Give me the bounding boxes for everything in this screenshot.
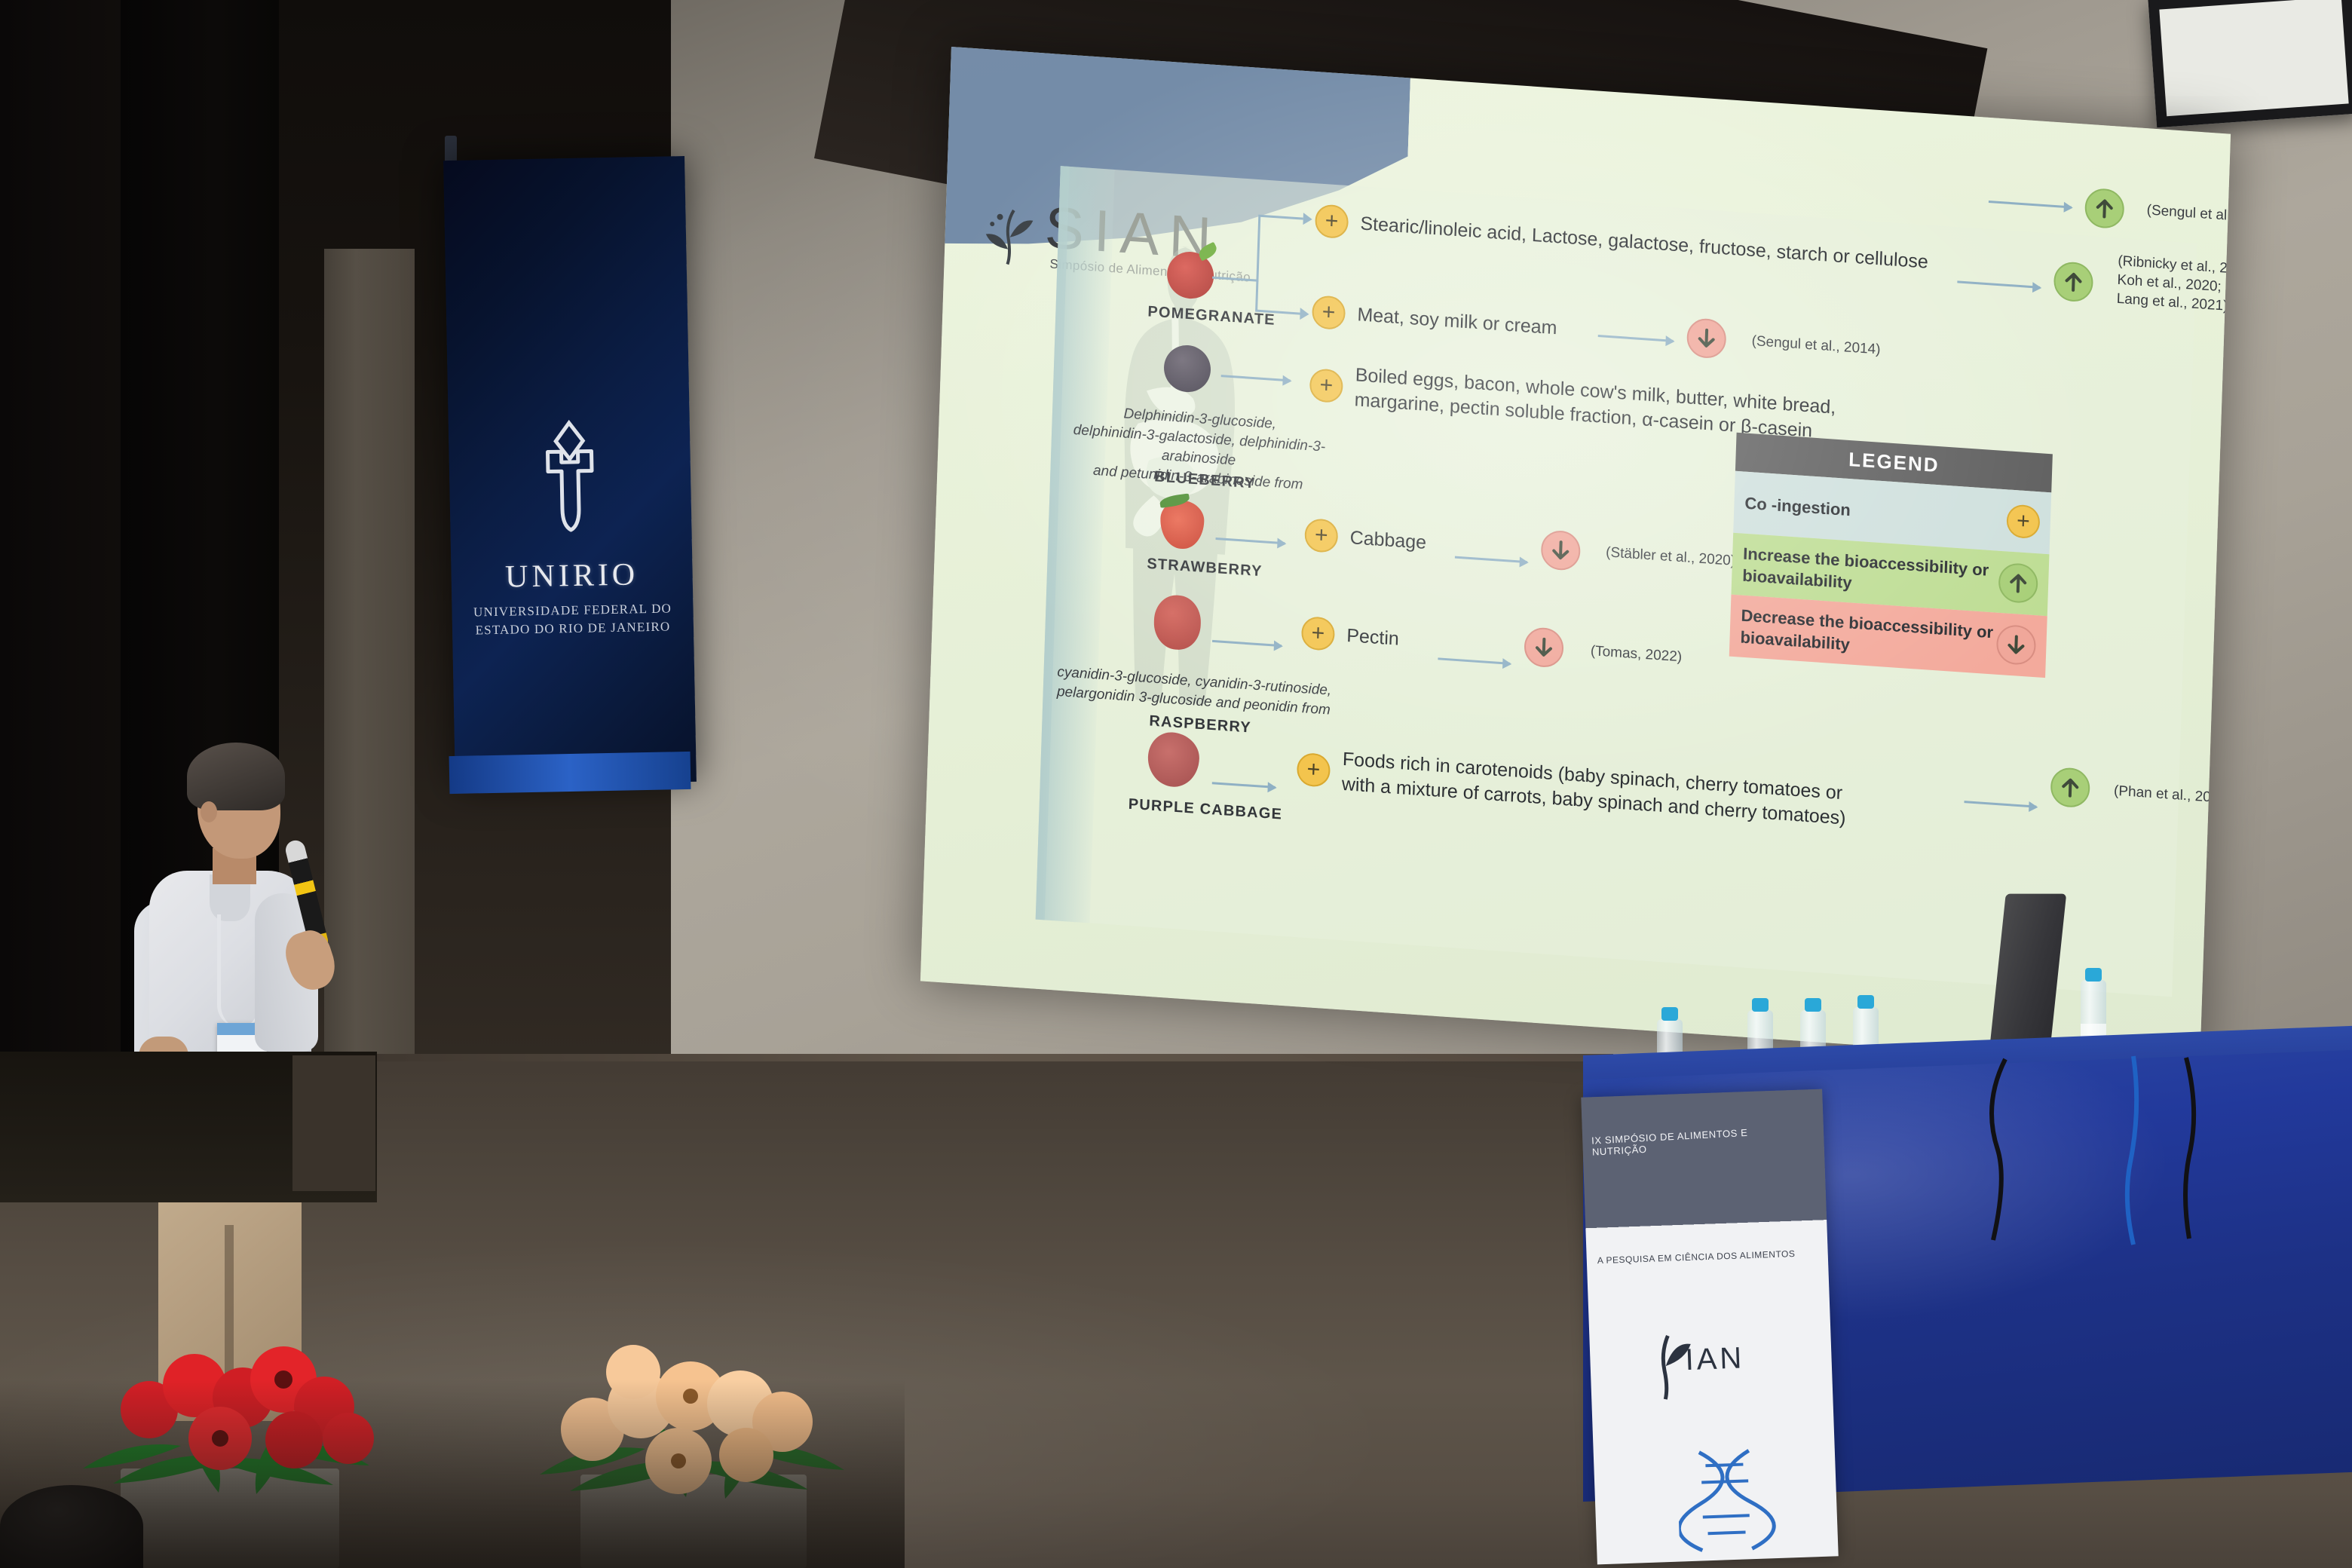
auxiliary-monitor [2148,0,2352,127]
foreground-audience-head [0,1485,143,1568]
banner-footer-stripe [449,752,691,794]
plus-icon: + [1312,295,1346,330]
skirt-sian-logo-icon: IAN [1634,1318,1766,1405]
unirio-crest-icon [520,418,620,540]
svg-text:IAN: IAN [1685,1341,1745,1377]
row-1-arrow [1989,201,2072,208]
presenter-ear [201,801,217,822]
arrow-down-icon [1996,624,2037,666]
plus-icon: + [2006,504,2040,539]
presenter-hair [187,743,285,810]
pomegranate-branch-connector [1211,207,1312,320]
row-5-text: Pectin [1346,623,1399,652]
auditorium-scene: UNIRIO UNIVERSIDADE FEDERAL DO ESTADO DO… [0,0,2352,1568]
unirio-banner: UNIRIO UNIVERSIDADE FEDERAL DO ESTADO DO… [443,156,697,786]
banner-line2: ESTADO DO RIO DE JANEIRO [475,619,670,637]
row-3-reference: (Ribnicky et al., 2014; Koh et al., 2020… [2116,252,2231,317]
banner-line1: UNIVERSIDADE FEDERAL DO [473,601,672,619]
skirt-event-line: IX SIMPÓSIO DE ALIMENTOS E NUTRIÇÃO [1591,1125,1796,1158]
laptop-cables [1960,1052,2352,1248]
banner-acronym: UNIRIO [451,556,693,596]
arrow-up-icon [1998,562,2038,605]
plus-icon: + [1309,368,1343,403]
banner-subtitle: UNIVERSIDADE FEDERAL DO ESTADO DO RIO DE… [452,599,694,640]
table-skirt-banner: IX SIMPÓSIO DE ALIMENTOS E NUTRIÇÃO A PE… [1581,1089,1838,1565]
row-4-text: Cabbage [1349,525,1426,556]
dna-helix-icon [1677,1445,1778,1554]
skirt-subtitle-line: A PESQUISA EM CIÊNCIA DOS ALIMENTOS [1597,1248,1801,1266]
stage-side-block [292,1055,375,1191]
plus-icon: + [1304,518,1338,553]
legend-box: LEGEND Co -ingestion + Increase the bioa… [1729,433,2053,678]
plus-icon: + [1297,752,1331,788]
legend-label-increase: Increase the bioaccessibility or bioavai… [1742,543,1999,604]
legend-label-co-ingestion: Co -ingestion [1744,492,2007,531]
legend-label-decrease: Decrease the bioaccessibility or bioavai… [1740,605,1997,666]
blueberry-chem-b: delphinidin-3-galactoside, delphinidin-3… [1073,422,1325,469]
row-1-reference: (Sengul et al., 2014) [2146,201,2231,228]
arrow-up-icon [2084,188,2125,230]
plus-icon: + [1315,204,1349,239]
slide-row-5: + Pectin [1301,616,1400,656]
sian-leaf-icon [982,202,1044,271]
plus-icon: + [1301,616,1335,651]
